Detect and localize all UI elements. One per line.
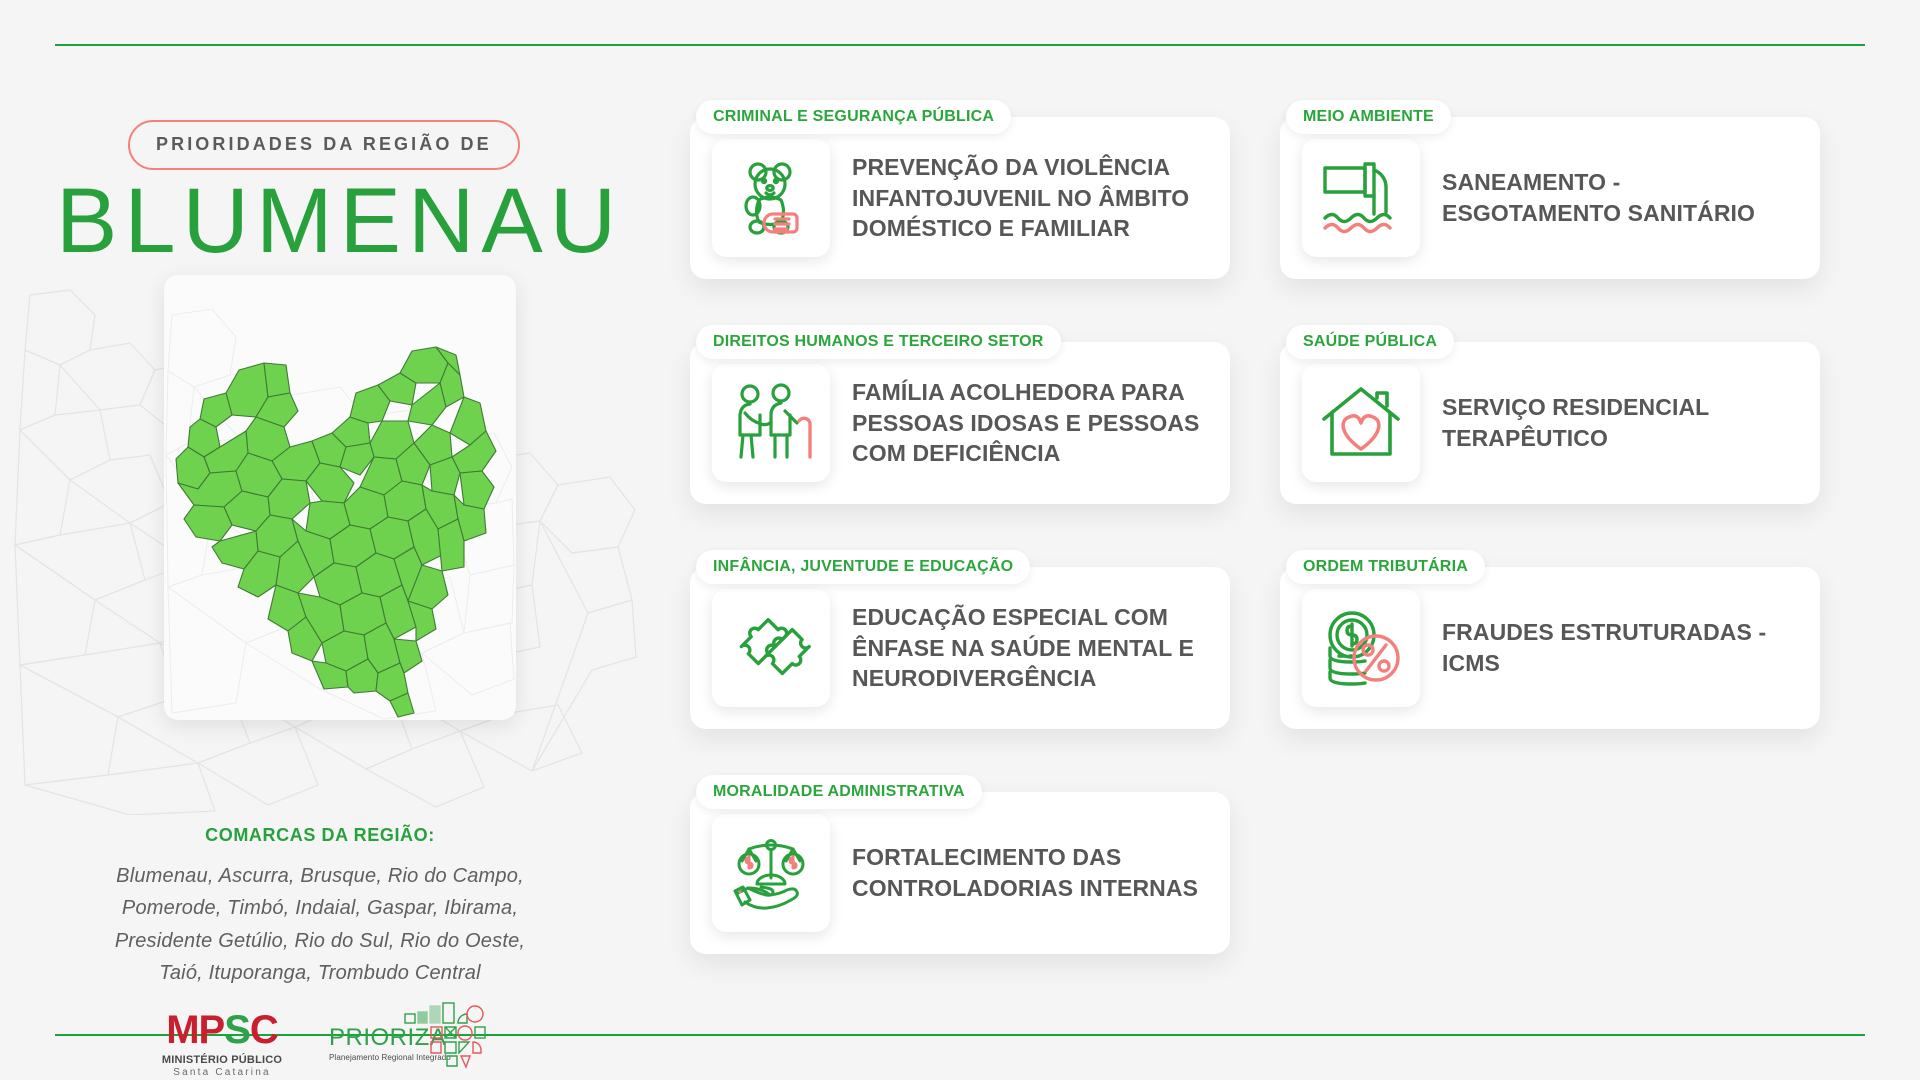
card-body[interactable]: FAMÍLIA ACOLHEDORA PARA PESSOAS IDOSAS E… xyxy=(690,342,1230,504)
card-body[interactable]: FRAUDES ESTRUTURADAS - ICMS xyxy=(1280,567,1820,729)
priorities-badge: PRIORIDADES DA REGIÃO DE xyxy=(128,120,520,170)
card-category-label: MORALIDADE ADMINISTRATIVA xyxy=(713,783,965,801)
mpsc-subtitle-line1: MINISTÉRIO PÚBLICO xyxy=(161,1054,283,1066)
mpsc-mark-s: S xyxy=(224,1008,250,1052)
card-category-label: CRIMINAL E SEGURANÇA PÚBLICA xyxy=(713,108,994,126)
comarcas-line: Presidente Getúlio, Rio do Sul, Rio do O… xyxy=(0,925,640,957)
card-body[interactable]: FORTALECIMENTO DAS CONTROLADORIAS INTERN… xyxy=(690,792,1230,954)
card-category-tag: CRIMINAL E SEGURANÇA PÚBLICA xyxy=(696,100,1011,134)
card-body[interactable]: PREVENÇÃO DA VIOLÊNCIA INFANTOJUVENIL NO… xyxy=(690,117,1230,279)
prioriza-mosaic-icon xyxy=(401,998,487,1072)
scales-hand-icon xyxy=(712,814,830,932)
card-category-label: DIREITOS HUMANOS E TERCEIRO SETOR xyxy=(713,333,1044,351)
prioriza-logo: PRIORIZA Planejamento Regional Integrado xyxy=(329,1026,479,1062)
card-title: SERVIÇO RESIDENCIAL TERAPÊUTICO xyxy=(1442,392,1794,453)
card-category-label: ORDEM TRIBUTÁRIA xyxy=(1303,558,1468,576)
sewage-pipe-icon xyxy=(1302,139,1420,257)
card-category-tag: SAÚDE PÚBLICA xyxy=(1286,325,1454,359)
card-category-label: MEIO AMBIENTE xyxy=(1303,108,1434,126)
card-category-label: SAÚDE PÚBLICA xyxy=(1303,333,1437,351)
coins-percent-icon xyxy=(1302,589,1420,707)
mpsc-mark-c: C xyxy=(250,1008,278,1052)
card-category-label: INFÂNCIA, JUVENTUDE E EDUCAÇÃO xyxy=(713,558,1013,576)
map-card xyxy=(164,275,516,720)
card-title: PREVENÇÃO DA VIOLÊNCIA INFANTOJUVENIL NO… xyxy=(852,152,1204,244)
card-category-tag: ORDEM TRIBUTÁRIA xyxy=(1286,550,1485,584)
page-title: BLUMENAU xyxy=(56,175,623,267)
comarcas-title: COMARCAS DA REGIÃO: xyxy=(0,825,640,846)
card-category-tag: INFÂNCIA, JUVENTUDE E EDUCAÇÃO xyxy=(696,550,1030,584)
mpsc-logo: MPSC MINISTÉRIO PÚBLICO Santa Catarina xyxy=(161,1010,283,1078)
teddy-bear-protection-icon xyxy=(712,139,830,257)
mpsc-wordmark: MPSC xyxy=(161,1010,283,1050)
card-category-tag: MORALIDADE ADMINISTRATIVA xyxy=(696,775,982,809)
card-title: FORTALECIMENTO DAS CONTROLADORIAS INTERN… xyxy=(852,842,1204,903)
puzzle-pieces-icon xyxy=(712,589,830,707)
blumenau-region-map-svg xyxy=(164,275,516,720)
house-heart-icon xyxy=(1302,364,1420,482)
card-body[interactable]: SERVIÇO RESIDENCIAL TERAPÊUTICO xyxy=(1280,342,1820,504)
priorities-cards-area: CRIMINAL E SEGURANÇA PÚBLICA xyxy=(690,0,1920,1080)
comarcas-line: Blumenau, Ascurra, Brusque, Rio do Campo… xyxy=(0,860,640,892)
logos-row: MPSC MINISTÉRIO PÚBLICO Santa Catarina xyxy=(0,1010,640,1078)
card-title: SANEAMENTO - ESGOTAMENTO SANITÁRIO xyxy=(1442,167,1794,228)
card-title: FAMÍLIA ACOLHEDORA PARA PESSOAS IDOSAS E… xyxy=(852,377,1204,469)
comarcas-line: Pomerode, Timbó, Indaial, Gaspar, Ibiram… xyxy=(0,892,640,924)
card-body[interactable]: SANEAMENTO - ESGOTAMENTO SANITÁRIO xyxy=(1280,117,1820,279)
priorities-badge-label: PRIORIDADES DA REGIÃO DE xyxy=(156,134,492,154)
comarcas-line: Taió, Ituporanga, Trombudo Central xyxy=(0,957,640,989)
card-title: FRAUDES ESTRUTURADAS - ICMS xyxy=(1442,617,1794,678)
card-category-tag: DIREITOS HUMANOS E TERCEIRO SETOR xyxy=(696,325,1061,359)
mpsc-subtitle-line2: Santa Catarina xyxy=(161,1067,283,1078)
card-body[interactable]: EDUCAÇÃO ESPECIAL COM ÊNFASE NA SAÚDE ME… xyxy=(690,567,1230,729)
comarcas-block: COMARCAS DA REGIÃO: Blumenau, Ascurra, B… xyxy=(0,825,640,990)
region-panel: PRIORIDADES DA REGIÃO DE BLUMENAU xyxy=(0,80,640,1010)
elderly-care-icon xyxy=(712,364,830,482)
card-title: EDUCAÇÃO ESPECIAL COM ÊNFASE NA SAÚDE ME… xyxy=(852,602,1204,694)
region-map xyxy=(0,255,640,815)
card-category-tag: MEIO AMBIENTE xyxy=(1286,100,1451,134)
mpsc-mark-mp: MP xyxy=(166,1008,224,1052)
